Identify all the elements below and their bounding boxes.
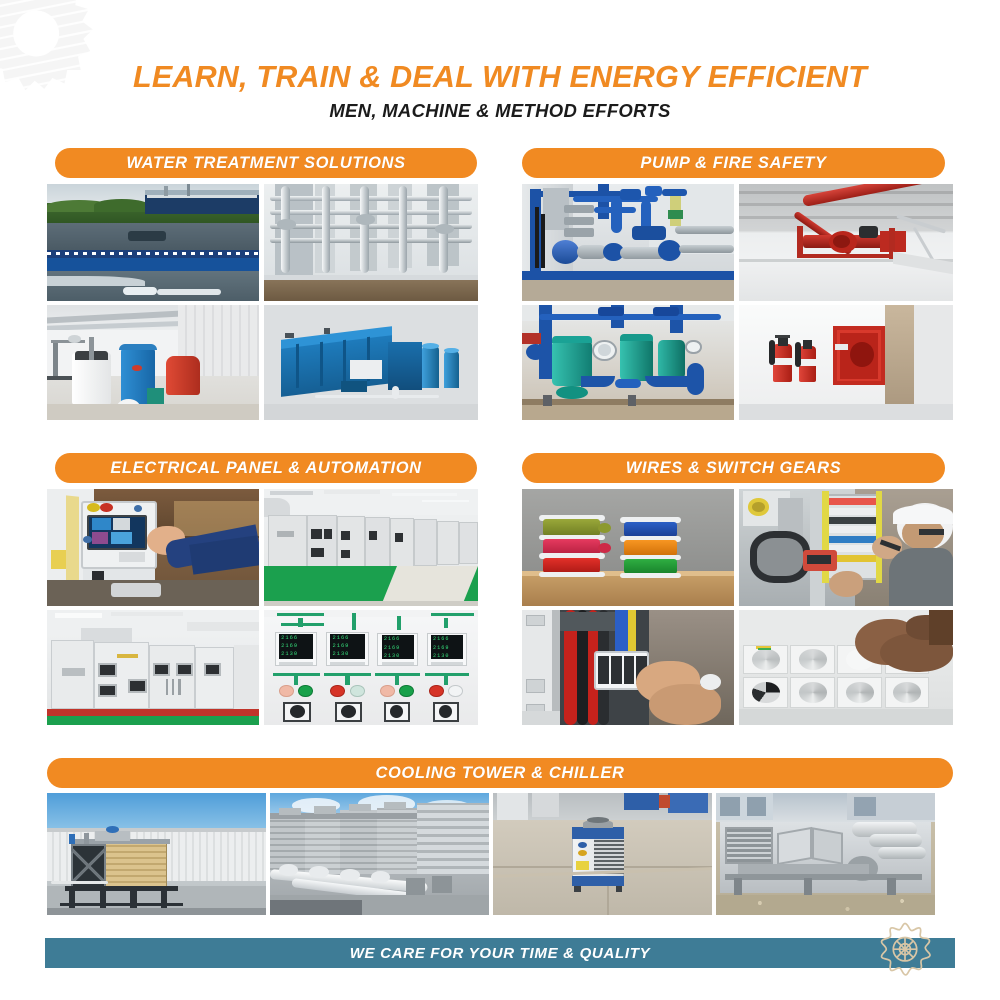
section-title-text: WIRES & SWITCH GEARS — [626, 459, 842, 478]
photo-tile-frp-cooling-tower — [47, 793, 266, 915]
photo-tile-valve-pump-manifold — [522, 184, 734, 301]
meter-digit-line: 2130 — [384, 653, 412, 660]
meter-digit-line: 2166 — [433, 636, 461, 643]
section-header-cooling-tower-chiller[interactable]: COOLING TOWER & CHILLER — [47, 758, 953, 788]
section-header-pump-fire-safety[interactable]: PUMP & FIRE SAFETY — [522, 148, 945, 178]
page-subheadline: MEN, MACHINE & METHOD EFFORTS — [0, 100, 1000, 122]
meter-digit-line: 2130 — [433, 653, 461, 660]
photo-tile-fire-extinguishers-cabinet — [739, 305, 953, 420]
photo-tile-wall-switch-plates — [739, 610, 953, 725]
footer-tagline-text: WE CARE FOR YOUR TIME & QUALITY — [350, 945, 651, 962]
meter-digit-line: 2166 — [281, 635, 311, 642]
photo-tile-etp-package-plant — [264, 305, 478, 420]
meter-digit-line: 2130 — [281, 651, 311, 658]
meter-digit-line: 2166 — [332, 635, 362, 642]
section-title-text: PUMP & FIRE SAFETY — [640, 154, 826, 173]
meter-digit-line: 2169 — [384, 645, 412, 652]
section-title-text: COOLING TOWER & CHILLER — [375, 764, 624, 783]
section-title-text: WATER TREATMENT SOLUTIONS — [126, 154, 405, 173]
footer-tagline-bar: WE CARE FOR YOUR TIME & QUALITY — [45, 938, 955, 968]
page-header: LEARN, TRAIN & DEAL WITH ENERGY EFFICIEN… — [0, 60, 1000, 122]
section-header-water-treatment[interactable]: WATER TREATMENT SOLUTIONS — [55, 148, 477, 178]
meter-digit-line: 2169 — [433, 645, 461, 652]
photo-tile-cable-spools — [522, 489, 734, 606]
meter-digit-line: 2169 — [281, 643, 311, 650]
photo-tile-booster-pumps — [522, 305, 734, 420]
meter-digit-line: 2169 — [332, 643, 362, 650]
meter-digit-line: 2166 — [384, 636, 412, 643]
photo-tile-cooling-tower-bank — [270, 793, 489, 915]
photo-tile-electrician-testing — [739, 489, 953, 606]
photo-tile-portable-chiller — [493, 793, 712, 915]
photo-tile-lv-distribution-panels — [47, 610, 259, 725]
brochure-page: LEARN, TRAIN & DEAL WITH ENERGY EFFICIEN… — [0, 0, 1000, 1000]
photo-tile-fire-sprinkler-riser — [739, 184, 953, 301]
photo-tile-hmi-operator — [47, 489, 259, 606]
section-header-wires-switch-gears[interactable]: WIRES & SWITCH GEARS — [522, 453, 945, 483]
meter-digit-line: 2130 — [332, 651, 362, 658]
section-title-text: ELECTRICAL PANEL & AUTOMATION — [110, 459, 421, 478]
photo-tile-clarifier-tank — [47, 184, 259, 301]
photo-tile-multifunction-meter-panel: 2166 2169 2130 2166 2169 2130 2166 2169 … — [264, 610, 478, 725]
photo-tile-water-softener-room — [47, 305, 259, 420]
photo-tile-mcb-installation — [522, 610, 734, 725]
page-headline: LEARN, TRAIN & DEAL WITH ENERGY EFFICIEN… — [0, 60, 1000, 94]
section-header-electrical-panel[interactable]: ELECTRICAL PANEL & AUTOMATION — [55, 453, 477, 483]
photo-tile-skid-chiller-plant — [716, 793, 935, 915]
photo-tile-ro-piping-plant — [264, 184, 478, 301]
photo-tile-switchgear-lineup — [264, 489, 478, 606]
